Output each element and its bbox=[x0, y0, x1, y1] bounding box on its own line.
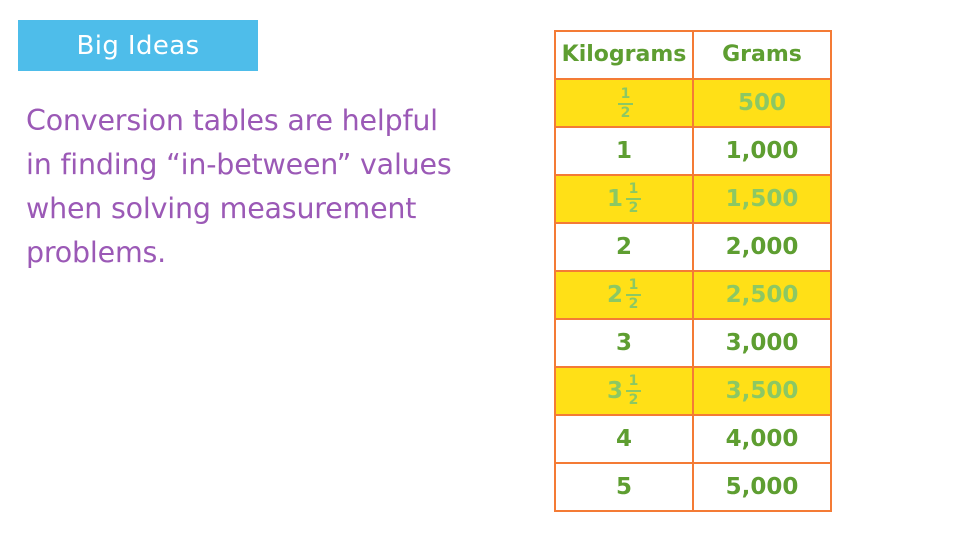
cell-grams: 1,500 bbox=[693, 175, 831, 223]
cell-kilograms: 1 bbox=[555, 127, 693, 175]
table-row: 1 2 500 bbox=[555, 79, 831, 127]
fraction: 1 2 bbox=[626, 182, 641, 215]
table-row: 3 1 2 3,500 bbox=[555, 367, 831, 415]
table-header-row: Kilograms Grams bbox=[555, 31, 831, 79]
body-line-2: in finding “in-between” values bbox=[26, 143, 492, 187]
whole-part: 3 bbox=[607, 380, 623, 403]
big-ideas-banner-label: Big Ideas bbox=[76, 33, 199, 59]
big-ideas-banner: Big Ideas bbox=[18, 20, 258, 71]
fraction-numerator: 1 bbox=[627, 278, 641, 293]
table-row: 2 2,000 bbox=[555, 223, 831, 271]
cell-kilograms: 2 bbox=[555, 223, 693, 271]
column-header-grams: Grams bbox=[693, 31, 831, 79]
fraction-denominator: 2 bbox=[627, 393, 641, 408]
fraction: 1 2 bbox=[626, 278, 641, 311]
conversion-table: Kilograms Grams 1 2 500 1 1,000 bbox=[554, 30, 832, 512]
cell-grams: 2,000 bbox=[693, 223, 831, 271]
cell-kilograms: 2 1 2 bbox=[555, 271, 693, 319]
table-row: 2 1 2 2,500 bbox=[555, 271, 831, 319]
mixed-number: 1 2 bbox=[615, 87, 633, 120]
left-content-panel: Big Ideas Conversion tables are helpful … bbox=[0, 0, 520, 540]
cell-grams: 4,000 bbox=[693, 415, 831, 463]
body-line-3: when solving measurement bbox=[26, 187, 492, 231]
cell-grams: 3,500 bbox=[693, 367, 831, 415]
cell-kilograms: 3 bbox=[555, 319, 693, 367]
cell-grams: 2,500 bbox=[693, 271, 831, 319]
body-line-1: Conversion tables are helpful bbox=[26, 99, 492, 143]
cell-grams: 500 bbox=[693, 79, 831, 127]
fraction-numerator: 1 bbox=[619, 87, 633, 102]
fraction-numerator: 1 bbox=[627, 374, 641, 389]
fraction: 1 2 bbox=[618, 87, 633, 120]
table-row: 1 1,000 bbox=[555, 127, 831, 175]
table-row: 5 5,000 bbox=[555, 463, 831, 511]
table-row: 4 4,000 bbox=[555, 415, 831, 463]
cell-grams: 3,000 bbox=[693, 319, 831, 367]
cell-grams: 5,000 bbox=[693, 463, 831, 511]
cell-kilograms: 1 1 2 bbox=[555, 175, 693, 223]
cell-kilograms: 5 bbox=[555, 463, 693, 511]
body-paragraph: Conversion tables are helpful in finding… bbox=[26, 99, 492, 275]
fraction-numerator: 1 bbox=[627, 182, 641, 197]
table-row: 1 1 2 1,500 bbox=[555, 175, 831, 223]
mixed-number: 3 1 2 bbox=[607, 374, 641, 407]
body-line-4: problems. bbox=[26, 231, 492, 275]
mixed-number: 1 1 2 bbox=[607, 182, 641, 215]
column-header-kilograms: Kilograms bbox=[555, 31, 693, 79]
cell-grams: 1,000 bbox=[693, 127, 831, 175]
mixed-number: 2 1 2 bbox=[607, 278, 641, 311]
fraction-denominator: 2 bbox=[627, 201, 641, 216]
whole-part: 1 bbox=[607, 188, 623, 211]
table-row: 3 3,000 bbox=[555, 319, 831, 367]
cell-kilograms: 3 1 2 bbox=[555, 367, 693, 415]
fraction-denominator: 2 bbox=[627, 297, 641, 312]
fraction: 1 2 bbox=[626, 374, 641, 407]
fraction-denominator: 2 bbox=[619, 106, 633, 121]
cell-kilograms: 1 2 bbox=[555, 79, 693, 127]
cell-kilograms: 4 bbox=[555, 415, 693, 463]
whole-part: 2 bbox=[607, 284, 623, 307]
